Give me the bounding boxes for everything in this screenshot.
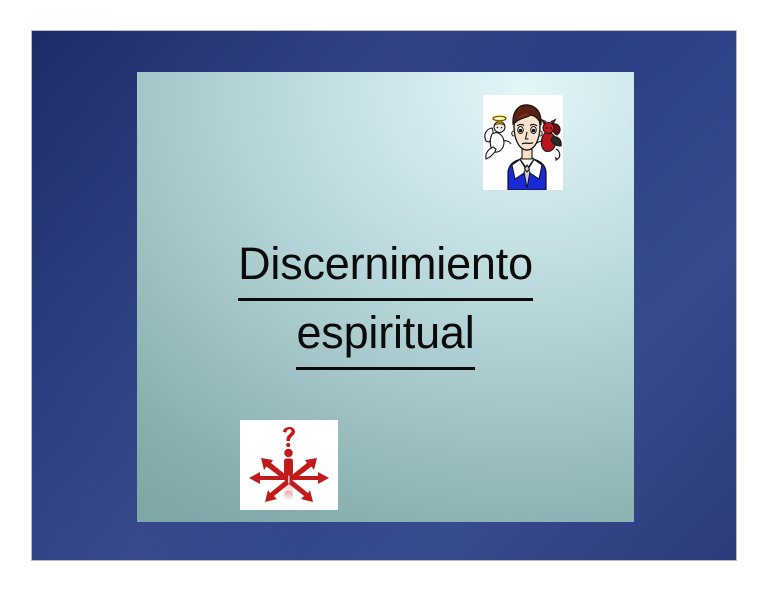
- slide-canvas: Discernimiento espiritual: [137, 72, 634, 522]
- slide-page: Discernimiento espiritual: [0, 0, 768, 593]
- title-line-2: espiritual: [137, 301, 634, 370]
- slide-frame-border: Discernimiento espiritual: [32, 31, 736, 560]
- title-line-1: Discernimiento: [137, 232, 634, 301]
- title-line-1-text: Discernimiento: [238, 232, 533, 301]
- angel-devil-shoulder-clipart: [483, 95, 563, 190]
- slide-title: Discernimiento espiritual: [137, 232, 634, 370]
- title-line-2-text: espiritual: [296, 301, 474, 370]
- decision-arrows-clipart: [240, 420, 338, 510]
